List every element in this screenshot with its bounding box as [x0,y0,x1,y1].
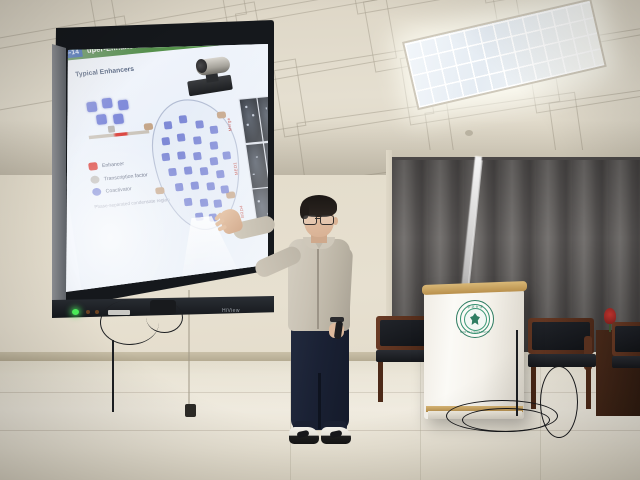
slide-section-heading: Typical Enhancers [75,66,135,78]
university-seal-icon: 华 北 大 学 NORTH UNIVERSITY [456,300,494,338]
floor-cable [112,340,114,412]
presenter-shoe [321,427,351,444]
smoke-detector-icon [465,130,473,136]
interactive-flat-panel[interactable]: 30-14 uper-Enhancers and SE-Backed Prote… [46,20,286,330]
presenter-shoe [289,427,319,444]
display-left-bezel [52,44,66,312]
legend-swatch-tf [90,175,100,184]
power-outlet-icon [185,404,196,417]
lecture-room-photo: 华 北 大 学 NORTH UNIVERSITY 30-14 uper-Enha… [0,0,640,480]
seal-top-text: 华 北 大 学 [457,304,493,309]
legend-label: Enhancer [102,161,125,169]
eyeglasses-icon [303,215,333,223]
jacket-zipper [317,243,319,329]
list-item [612,322,640,410]
legend-swatch-coactivator [92,188,102,197]
legend-swatch-enhancer [88,162,98,171]
presentation-slide: 30-14 uper-Enhancers and SE-Backed Prote… [66,44,268,292]
display-control-button[interactable] [86,310,90,314]
trouser-gap [318,373,321,429]
enhancer-schematic [84,95,151,145]
legend-label: Coactivator [105,186,132,194]
presenter [255,195,375,455]
legend-label: Transcription factor [103,171,147,181]
display-brand-label: HiView [222,308,240,314]
floor-cable-loop [462,408,550,432]
seal-bottom-text: NORTH UNIVERSITY [457,331,493,334]
power-led-icon [72,309,79,315]
floor-cable-loop [540,366,578,438]
display-control-button[interactable] [95,310,99,314]
display-screen[interactable]: 30-14 uper-Enhancers and SE-Backed Prote… [66,44,268,292]
cable-bundle [150,300,176,314]
